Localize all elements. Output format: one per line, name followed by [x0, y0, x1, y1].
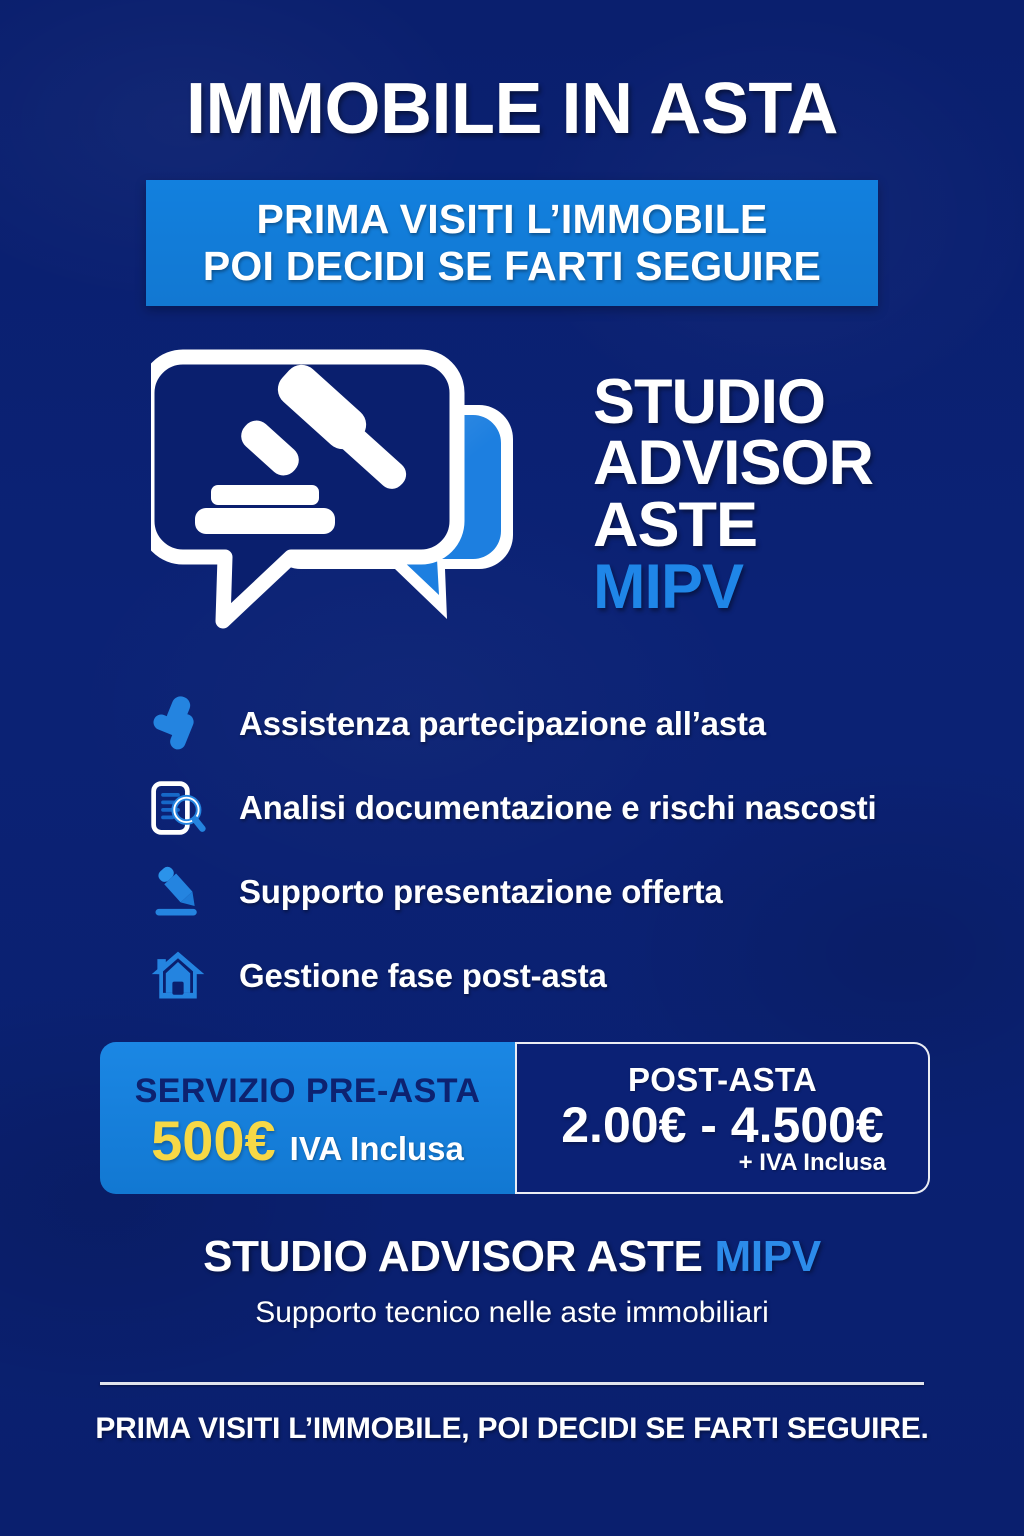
logo-line-4: MIPV	[593, 557, 873, 619]
pricing-panel: SERVIZIO PRE-ASTA 500€ IVA Inclusa POST-…	[100, 1042, 930, 1194]
post-asta-note: + IVA Inclusa	[739, 1149, 886, 1177]
feature-label: Supporto presentazione offerta	[239, 873, 723, 911]
footer-brand: STUDIO ADVISOR ASTE MIPV	[0, 1232, 1024, 1282]
pre-asta-title: SERVIZIO PRE-ASTA	[135, 1072, 481, 1111]
logo-line-2: ADVISOR	[593, 433, 873, 495]
poster-canvas: IMMOBILE IN ASTA PRIMA VISITI L’IMMOBILE…	[0, 0, 1024, 1536]
feature-label: Assistenza partecipazione all’asta	[239, 705, 766, 743]
document-search-icon	[145, 775, 211, 841]
pen-signature-icon	[145, 859, 211, 925]
logo-block: STUDIO ADVISOR ASTE MIPV	[0, 340, 1024, 650]
feature-list: Assistenza partecipazione all’asta	[145, 682, 935, 1018]
pricing-card-pre-asta: SERVIZIO PRE-ASTA 500€ IVA Inclusa	[100, 1042, 515, 1194]
highlight-band: PRIMA VISITI L’IMMOBILE POI DECIDI SE FA…	[146, 180, 878, 306]
list-item: Analisi documentazione e rischi nascosti	[145, 766, 935, 850]
page-title: IMMOBILE IN ASTA	[0, 68, 1024, 150]
footer-tagline: PRIMA VISITI L’IMMOBILE, POI DECIDI SE F…	[0, 1412, 1024, 1446]
house-icon	[145, 943, 211, 1009]
post-asta-amount: 2.00€ - 4.500€	[561, 1099, 884, 1152]
pre-asta-note: IVA Inclusa	[290, 1132, 464, 1165]
pre-asta-amount: 500€	[151, 1113, 276, 1169]
list-item: Supporto presentazione offerta	[145, 850, 935, 934]
band-line-2: POI DECIDI SE FARTI SEGUIRE	[203, 245, 821, 288]
footer-brand-main: STUDIO ADVISOR ASTE	[203, 1232, 714, 1281]
feature-label: Analisi documentazione e rischi nascosti	[239, 789, 877, 827]
feature-label: Gestione fase post-asta	[239, 957, 607, 995]
logo-wordmark: STUDIO ADVISOR ASTE MIPV	[593, 372, 873, 619]
band-line-1: PRIMA VISITI L’IMMOBILE	[256, 198, 767, 241]
divider	[100, 1382, 924, 1385]
gavel-icon	[145, 691, 211, 757]
logo-line-3: ASTE	[593, 495, 873, 557]
footer-brand-accent: MIPV	[715, 1232, 821, 1281]
footer-subtitle: Supporto tecnico nelle aste immobiliari	[0, 1296, 1024, 1330]
post-asta-title: POST-ASTA	[628, 1061, 817, 1099]
pricing-card-post-asta: POST-ASTA 2.00€ - 4.500€ + IVA Inclusa	[515, 1042, 930, 1194]
logo-line-1: STUDIO	[593, 372, 873, 434]
speech-bubbles-gavel-icon	[151, 345, 551, 645]
list-item: Gestione fase post-asta	[145, 934, 935, 1018]
list-item: Assistenza partecipazione all’asta	[145, 682, 935, 766]
pre-asta-amount-row: 500€ IVA Inclusa	[151, 1113, 464, 1169]
